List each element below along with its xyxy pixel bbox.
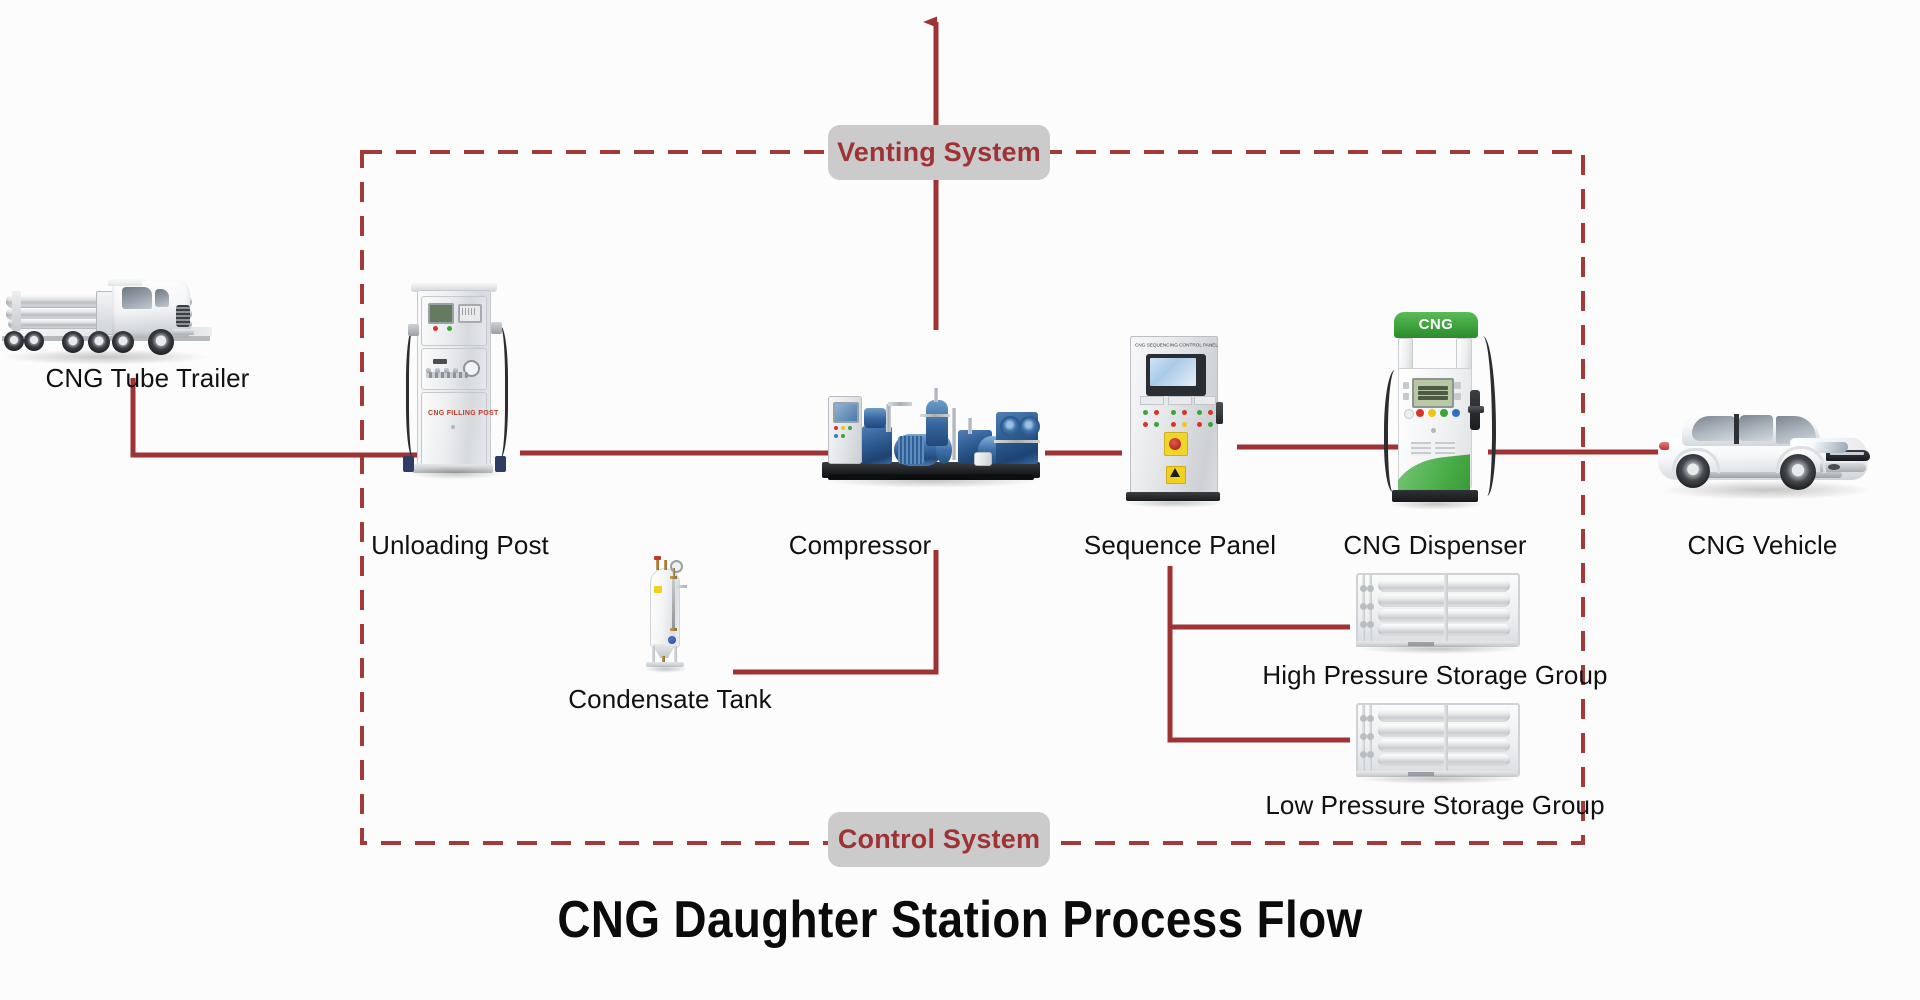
node-unloading-post[interactable]: CNG FILLING POST [395,268,525,503]
cng-vehicle-icon [1630,400,1895,510]
cng-tube-trailer-icon [0,265,300,375]
badge-control-system[interactable]: Control System [828,812,1050,867]
condensate-tank-icon [630,552,710,672]
dispenser-display [1412,378,1454,408]
node-condensate-tank[interactable] [630,552,710,672]
label-cng-vehicle: CNG Vehicle [1630,530,1895,561]
badge-control-system-label: Control System [838,824,1040,855]
process-flow-diagram: CNG Tube Trailer CNG FILLING [0,0,1920,1000]
line-sequence-panel-to-high-pressure-storage [1170,566,1350,627]
label-low-pressure-storage: Low Pressure Storage Group [1210,790,1660,821]
node-compressor[interactable] [818,378,1048,488]
dispenser-button-yellow[interactable] [1428,409,1436,417]
line-compressor-to-condensate-tank [733,550,936,672]
label-cng-dispenser: CNG Dispenser [1280,530,1590,561]
node-low-pressure-storage[interactable] [1348,695,1524,785]
node-cng-tube-trailer[interactable] [0,265,300,375]
label-cng-tube-trailer: CNG Tube Trailer [0,363,295,394]
node-sequence-panel[interactable]: CNG SEQUENCING CONTROL PANEL [1118,330,1240,510]
dispenser-button-green[interactable] [1440,409,1448,417]
page-title: CNG Daughter Station Process Flow [115,890,1805,950]
node-high-pressure-storage[interactable] [1348,565,1524,655]
label-sequence-panel: Sequence Panel [1080,530,1280,561]
label-unloading-post: Unloading Post [370,530,550,561]
high-pressure-storage-icon [1348,565,1524,655]
label-condensate-tank: Condensate Tank [560,684,780,715]
dispenser-button-red[interactable] [1416,409,1424,417]
unloading-post-icon: CNG FILLING POST [395,268,525,503]
low-pressure-storage-icon [1348,695,1524,785]
badge-venting-system[interactable]: Venting System [828,125,1050,180]
node-cng-vehicle[interactable] [1630,400,1895,510]
badge-venting-system-label: Venting System [837,137,1041,168]
label-compressor: Compressor [770,530,950,561]
dispenser-brand-text: CNG [1394,316,1478,333]
compressor-icon [818,378,1048,488]
sequence-panel-icon: CNG SEQUENCING CONTROL PANEL [1118,330,1240,510]
label-high-pressure-storage: High Pressure Storage Group [1210,660,1660,691]
dispenser-button-blue[interactable] [1452,409,1460,417]
unloading-post-marking: CNG FILLING POST [428,410,499,417]
node-cng-dispenser[interactable]: CNG [1378,306,1498,510]
cng-dispenser-icon: CNG [1378,306,1498,510]
sequence-panel-marking: CNG SEQUENCING CONTROL PANEL [1135,343,1218,349]
